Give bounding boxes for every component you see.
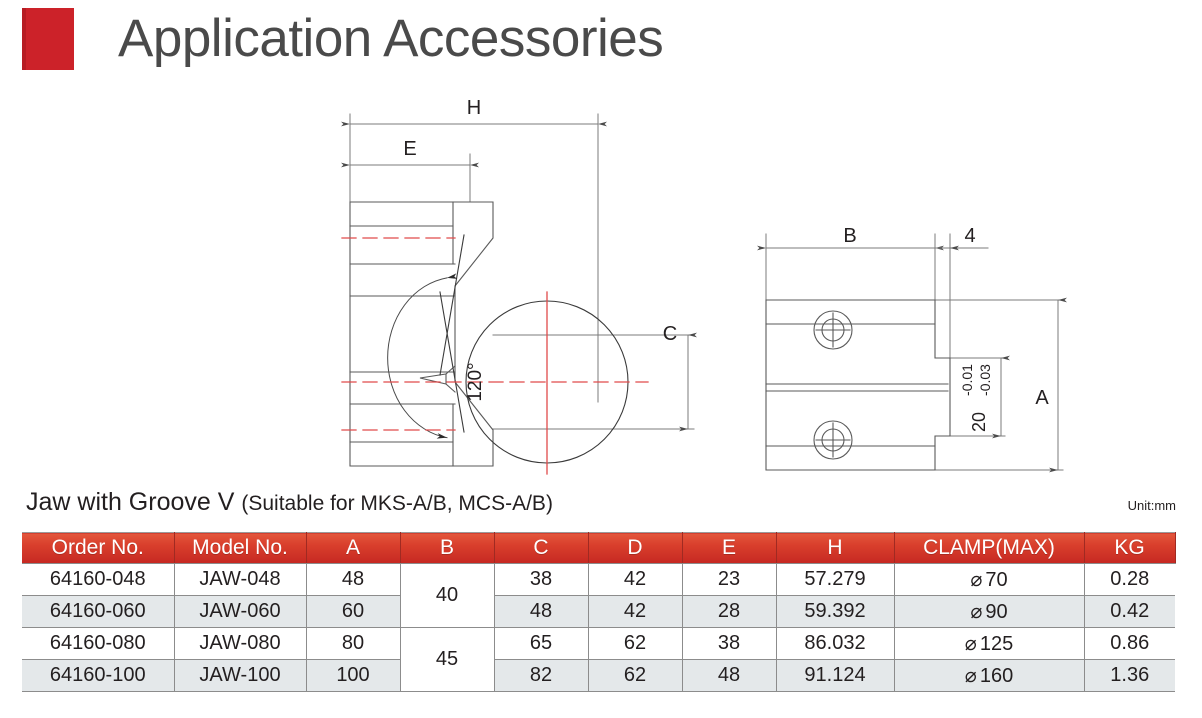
- label-b: B: [843, 225, 856, 247]
- cell-clamp-max: ⌀125: [894, 628, 1084, 660]
- unit-note: Unit:mm: [1128, 498, 1176, 514]
- jaw-body-profile: [350, 202, 493, 466]
- cell-a: 100: [306, 660, 400, 692]
- cell-clamp-max: ⌀160: [894, 660, 1084, 692]
- cell-a: 48: [306, 564, 400, 596]
- cell-d: 62: [588, 628, 682, 660]
- cell-h: 91.124: [776, 660, 894, 692]
- cell-kg: 0.42: [1084, 596, 1175, 628]
- cell-h: 59.392: [776, 596, 894, 628]
- label-h: H: [467, 97, 481, 119]
- diameter-icon: ⌀: [965, 665, 980, 687]
- cell-kg: 1.36: [1084, 660, 1175, 692]
- cell-a: 80: [306, 628, 400, 660]
- label-tol-nominal: 20: [969, 412, 989, 432]
- label-c: C: [663, 323, 677, 345]
- cell-d: 42: [588, 596, 682, 628]
- diameter-icon: ⌀: [970, 569, 985, 591]
- table-col-header-h: H: [776, 533, 894, 564]
- table-row: 64160-048JAW-048484038422357.279⌀700.28: [22, 564, 1175, 596]
- drawing-canvas: H E C 120° ØD B 4 A 20 -0.01 -0.03: [0, 92, 1202, 484]
- spec-table-wrap: Order No.Model No.ABCDEHCLAMP(MAX)KG 641…: [22, 532, 1175, 692]
- cell-order-no: 64160-100: [22, 660, 174, 692]
- cell-e: 23: [682, 564, 776, 596]
- brand-mark-icon: [22, 8, 74, 70]
- cell-model-no: JAW-100: [174, 660, 306, 692]
- table-col-header-order-no: Order No.: [22, 533, 174, 564]
- cell-order-no: 64160-080: [22, 628, 174, 660]
- cell-c: 82: [494, 660, 588, 692]
- label-a: A: [1035, 387, 1049, 409]
- table-header-row: Order No.Model No.ABCDEHCLAMP(MAX)KG: [22, 533, 1175, 564]
- cell-a: 60: [306, 596, 400, 628]
- table-row: 64160-060JAW-0606048422859.392⌀900.42: [22, 596, 1175, 628]
- table-body: 64160-048JAW-048484038422357.279⌀700.286…: [22, 564, 1175, 692]
- diameter-icon: ⌀: [970, 601, 985, 623]
- table-col-header-d: D: [588, 533, 682, 564]
- cell-kg: 0.28: [1084, 564, 1175, 596]
- technical-drawings: H E C 120° ØD B 4 A 20 -0.01 -0.03: [0, 92, 1202, 484]
- cell-c: 38: [494, 564, 588, 596]
- cell-e: 38: [682, 628, 776, 660]
- table-header: Order No.Model No.ABCDEHCLAMP(MAX)KG: [22, 533, 1175, 564]
- cell-h: 86.032: [776, 628, 894, 660]
- cell-c: 48: [494, 596, 588, 628]
- cell-b: 40: [400, 564, 494, 628]
- table-col-header-kg: KG: [1084, 533, 1175, 564]
- cell-e: 48: [682, 660, 776, 692]
- counterbore-hole-bottom: [814, 421, 852, 459]
- cell-kg: 0.86: [1084, 628, 1175, 660]
- table-col-header-e: E: [682, 533, 776, 564]
- table-col-header-model-no: Model No.: [174, 533, 306, 564]
- cell-model-no: JAW-080: [174, 628, 306, 660]
- page-header: Application Accessories: [0, 0, 1202, 92]
- table-col-header-b: B: [400, 533, 494, 564]
- counterbore-hole-top: [814, 311, 852, 349]
- cell-c: 65: [494, 628, 588, 660]
- figure-caption-main: Jaw with Groove V: [26, 488, 241, 516]
- label-tol-upper: -0.01: [959, 364, 975, 396]
- table-col-header-a: A: [306, 533, 400, 564]
- cell-e: 28: [682, 596, 776, 628]
- dim-a: [935, 300, 1063, 470]
- cell-h: 57.279: [776, 564, 894, 596]
- specification-table: Order No.Model No.ABCDEHCLAMP(MAX)KG 641…: [22, 532, 1176, 692]
- label-tol-lower: -0.03: [977, 364, 993, 396]
- cell-model-no: JAW-060: [174, 596, 306, 628]
- cell-d: 42: [588, 564, 682, 596]
- table-row: 64160-080JAW-080804565623886.032⌀1250.86: [22, 628, 1175, 660]
- figure-caption: Jaw with Groove V (Suitable for MKS-A/B,…: [26, 486, 553, 520]
- cell-clamp-max: ⌀90: [894, 596, 1084, 628]
- table-col-header-c: C: [494, 533, 588, 564]
- cell-clamp-max: ⌀70: [894, 564, 1084, 596]
- label-step-4: 4: [964, 225, 975, 247]
- label-angle-120: 120°: [465, 362, 486, 401]
- table-row: 64160-100JAW-10010082624891.124⌀1601.36: [22, 660, 1175, 692]
- cell-d: 62: [588, 660, 682, 692]
- table-col-header-clamp-max: CLAMP(MAX): [894, 533, 1084, 564]
- page-title: Application Accessories: [118, 6, 663, 72]
- side-view-profile: [766, 300, 950, 470]
- caption-row: Jaw with Groove V (Suitable for MKS-A/B,…: [0, 484, 1202, 528]
- cell-b: 45: [400, 628, 494, 692]
- figure-caption-sub: (Suitable for MKS-A/B, MCS-A/B): [241, 492, 553, 515]
- label-e: E: [403, 138, 416, 160]
- cell-model-no: JAW-048: [174, 564, 306, 596]
- cell-order-no: 64160-048: [22, 564, 174, 596]
- cell-order-no: 64160-060: [22, 596, 174, 628]
- diameter-icon: ⌀: [965, 633, 980, 655]
